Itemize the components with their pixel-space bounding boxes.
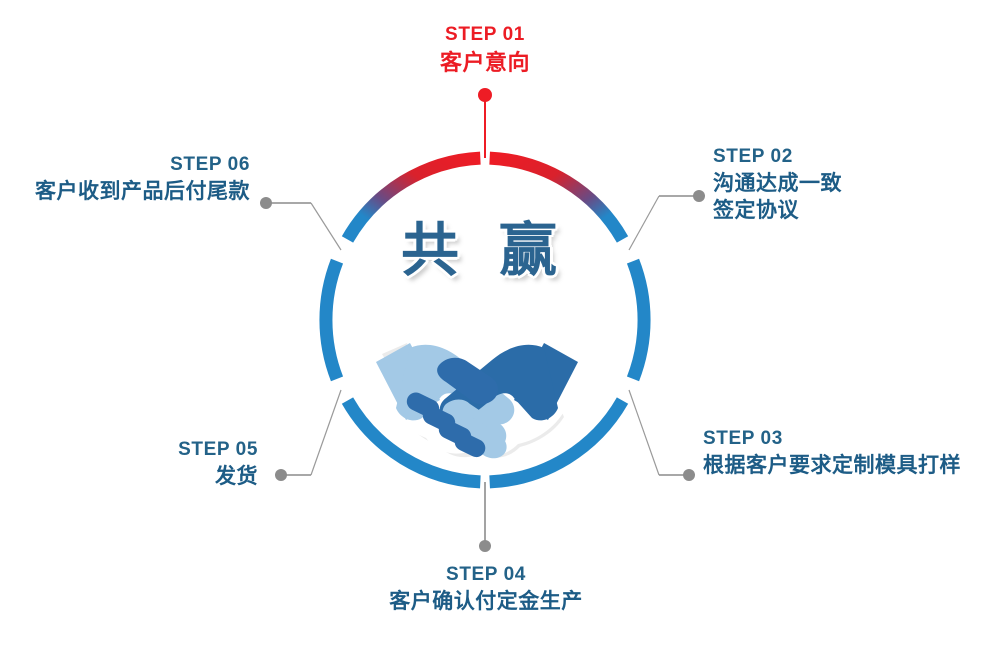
connector-step-04 [479, 482, 491, 552]
step-02-title: 沟通达成一致 签定协议 [713, 170, 842, 225]
step-03[interactable]: STEP 03 根据客户要求定制模具打样 [703, 426, 961, 479]
step-01-number: STEP 01 [385, 22, 585, 48]
step-01-title: 客户意向 [385, 48, 585, 77]
connector-step-06 [260, 197, 341, 250]
step-01-title-line-1: 客户意向 [385, 48, 585, 77]
step-02-number: STEP 02 [713, 144, 842, 170]
handshake-icon [362, 312, 612, 462]
connector-step-05 [275, 390, 341, 481]
connector-step-01 [478, 88, 492, 158]
step-01[interactable]: STEP 01 客户意向 [385, 22, 585, 77]
step-04-title-line-1: 客户确认付定金生产 [383, 588, 589, 616]
step-04-number: STEP 04 [383, 562, 589, 588]
step-06-title: 客户收到产品后付尾款 [6, 178, 250, 206]
step-04[interactable]: STEP 04 客户确认付定金生产 [383, 562, 589, 615]
step-06-number: STEP 06 [6, 152, 250, 178]
connector-step-02 [629, 190, 705, 250]
step-02-title-line-1: 沟通达成一致 [713, 170, 842, 198]
step-06-title-line-1: 客户收到产品后付尾款 [6, 178, 250, 206]
ring-arc-left [326, 261, 337, 379]
step-02[interactable]: STEP 02 沟通达成一致 签定协议 [713, 144, 842, 225]
step-03-title-line-1: 根据客户要求定制模具打样 [703, 452, 961, 480]
step-06[interactable]: STEP 06 客户收到产品后付尾款 [6, 152, 250, 205]
step-05-number: STEP 05 [86, 437, 258, 463]
step-04-title: 客户确认付定金生产 [383, 588, 589, 616]
step-05-title-line-1: 发货 [86, 463, 258, 491]
step-05-title: 发货 [86, 463, 258, 491]
step-03-title: 根据客户要求定制模具打样 [703, 452, 961, 480]
step-03-number: STEP 03 [703, 426, 961, 452]
step-02-title-line-2: 签定协议 [713, 197, 842, 225]
center-word: 共 赢 [385, 222, 585, 280]
connector-step-03 [629, 390, 695, 481]
ring-arc-right [633, 261, 644, 379]
step-05[interactable]: STEP 05 发货 [86, 437, 258, 490]
process-cycle-diagram: 共 赢 STEP 01 [0, 0, 1000, 650]
